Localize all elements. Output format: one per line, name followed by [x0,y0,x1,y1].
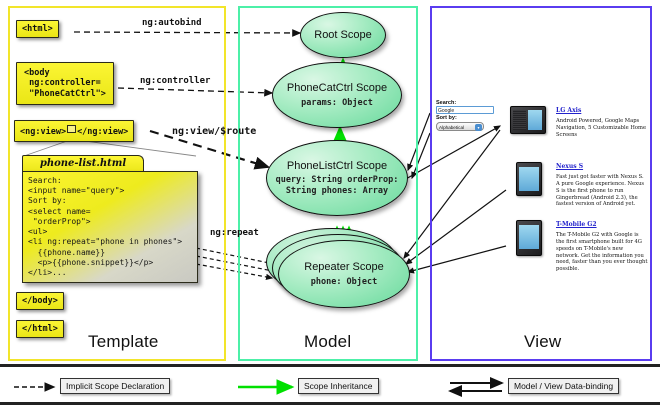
scope-repeater-props: phone: Object [311,277,378,287]
scope-phonelistctrl: PhoneListCtrl Scope query: String orderP… [266,140,408,216]
chevron-down-icon: ▾ [475,124,482,131]
ng-view-close-tag: </ng:view> [77,127,128,137]
connector-label-repeat: ng:repeat [210,228,259,238]
legend-model-view-databinding: Model / View Data-binding [508,378,619,394]
code-box-html-close: </html> [16,320,64,338]
template-file-code: Search: <input name="query"> Sort by: <s… [22,171,198,283]
legend-divider-top [0,364,660,367]
phone-snippet-1: Fast just got faster with Nexus S. A pur… [556,174,648,208]
panel-label-template: Template [88,332,159,352]
code-box-ng-view: <ng:view></ng:view> [14,120,134,142]
phone-name-2[interactable]: T-Mobile G2 [556,221,597,228]
phone-name-1[interactable]: Nexus S [556,163,583,170]
scope-repeater-name: Repeater Scope [304,261,384,273]
connector-label-controller: ng:controller [140,76,210,86]
connector-label-autobind: ng:autobind [142,18,202,28]
sort-label: Sort by: [436,115,500,121]
scope-phonecatctrl-name: PhoneCatCtrl Scope [287,82,387,94]
legend-scope-inheritance: Scope Inheritance [298,378,379,394]
search-input[interactable]: Google [436,106,494,114]
scope-root: Root Scope [300,12,386,58]
phone-name-0[interactable]: LG Axis [556,107,581,114]
legend-implicit-scope-declaration: Implicit Scope Declaration [60,378,170,394]
connector-label-route: ng:view/$route [172,126,256,137]
template-file-name: phone-list.html [22,155,144,172]
phone-snippet-2: The T-Mobile G2 with Google is the first… [556,232,648,273]
code-box-html-open: <html> [16,20,59,38]
ng-view-open-tag: <ng:view> [20,127,66,137]
scope-phonelistctrl-props: query: String orderProp: String phones: … [267,175,407,195]
scope-phonelistctrl-name: PhoneListCtrl Scope [287,160,387,172]
scope-repeater: Repeater Scope phone: Object [278,240,410,308]
diagram-canvas: Template Model View <html> <body ng:cont… [0,0,660,405]
phone-thumb-lg-axis [510,106,546,134]
ng-view-placeholder-icon [67,125,76,133]
code-box-body-open: <body ng:controller= "PhoneCatCtrl"> [16,62,114,105]
scope-phonecatctrl: PhoneCatCtrl Scope params: Object [272,62,402,128]
scope-root-name: Root Scope [314,29,371,41]
view-search-form: Search: Google Sort by: Alphabetical▾ [436,100,500,131]
phone-thumb-nexus-s [516,162,542,196]
sort-select[interactable]: Alphabetical▾ [436,122,484,131]
phone-snippet-0: Android Powered, Google Maps Navigation,… [556,118,648,139]
code-box-body-close: </body> [16,292,64,310]
phone-thumb-tmobile-g2 [516,220,542,256]
sort-select-value: Alphabetical [439,125,464,130]
scope-phonecatctrl-props: params: Object [301,98,373,108]
panel-label-view: View [524,332,561,352]
legend-glyph-databinding [450,383,502,391]
template-file-callout: phone-list.html Search: <input name="que… [22,155,198,285]
panel-label-model: Model [304,332,351,352]
